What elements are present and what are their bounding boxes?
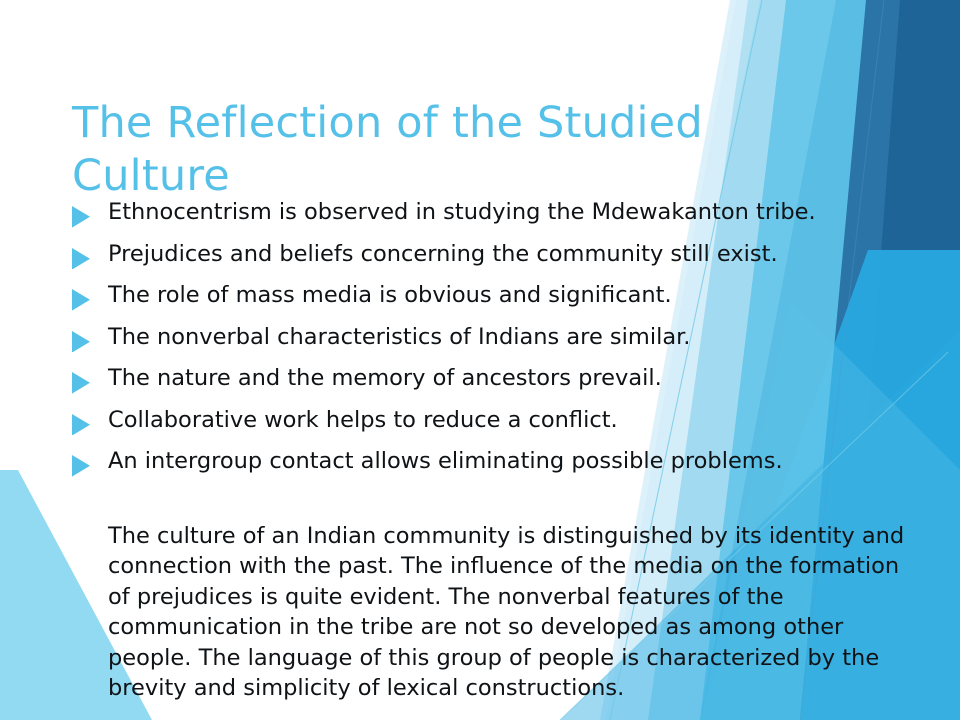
list-item: The nonverbal characteristics of Indians…	[72, 322, 902, 364]
list-item: Prejudices and beliefs concerning the co…	[72, 239, 902, 281]
list-item: Collaborative work helps to reduce a con…	[72, 405, 902, 447]
bullet-label: Ethnocentrism is observed in studying th…	[108, 197, 816, 227]
bullet-label: An intergroup contact allows eliminating…	[108, 446, 783, 476]
triangle-right-icon	[72, 331, 90, 353]
triangle-right-icon	[72, 414, 90, 436]
list-item: An intergroup contact allows eliminating…	[72, 446, 902, 488]
bullet-label: The role of mass media is obvious and si…	[108, 280, 672, 310]
triangle-right-icon	[72, 248, 90, 270]
triangle-right-icon	[72, 455, 90, 477]
bullet-list: Ethnocentrism is observed in studying th…	[72, 197, 902, 488]
slide: The Reflection of the Studied Culture Et…	[0, 0, 960, 720]
triangle-right-icon	[72, 372, 90, 394]
list-item: The nature and the memory of ancestors p…	[72, 363, 902, 405]
triangle-right-icon	[72, 289, 90, 311]
bullet-label: Prejudices and beliefs concerning the co…	[108, 239, 778, 269]
bullet-label: The nature and the memory of ancestors p…	[108, 363, 662, 393]
slide-title: The Reflection of the Studied Culture	[72, 97, 732, 204]
bullet-label: Collaborative work helps to reduce a con…	[108, 405, 618, 435]
list-item: The role of mass media is obvious and si…	[72, 280, 902, 322]
triangle-right-icon	[72, 206, 90, 228]
list-item: Ethnocentrism is observed in studying th…	[72, 197, 902, 239]
slide-content: The Reflection of the Studied Culture Et…	[0, 0, 960, 720]
summary-paragraph: The culture of an Indian community is di…	[108, 521, 908, 704]
bullet-label: The nonverbal characteristics of Indians…	[108, 322, 690, 352]
